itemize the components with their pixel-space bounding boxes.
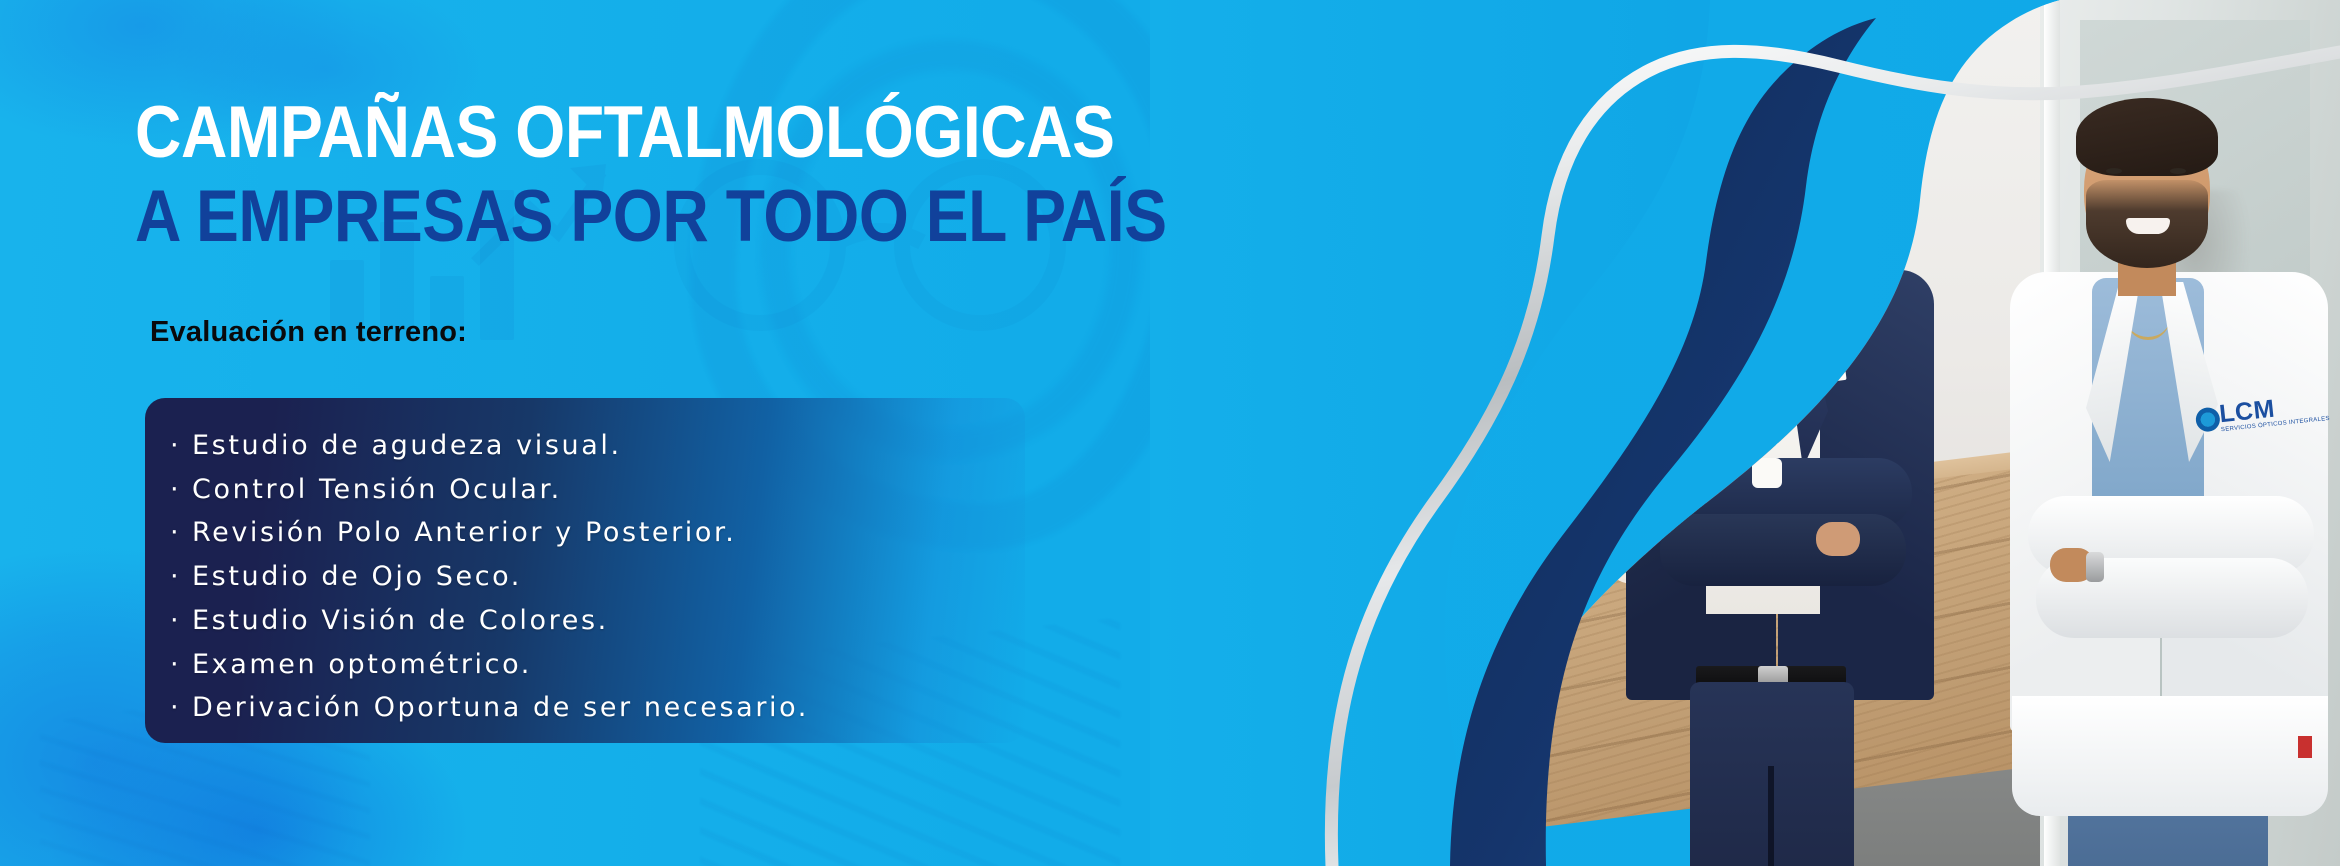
list-item-label: Examen optométrico.	[192, 649, 532, 680]
bullet-icon: ·	[170, 555, 192, 599]
services-list: ·Estudio de agudeza visual.·Control Tens…	[170, 424, 1040, 730]
list-item: ·Estudio de agudeza visual.	[170, 424, 1040, 468]
bullet-icon: ·	[170, 599, 192, 643]
list-item-label: Estudio Visión de Colores.	[192, 605, 609, 636]
list-item: ·Control Tensión Ocular.	[170, 468, 1040, 512]
list-item-label: Estudio de agudeza visual.	[192, 430, 622, 461]
bullet-icon: ·	[170, 424, 192, 468]
bullet-icon: ·	[170, 686, 192, 730]
list-item-label: Derivación Oportuna de ser necesario.	[192, 692, 809, 723]
list-item-label: Revisión Polo Anterior y Posterior.	[192, 517, 736, 548]
headline-line-2: A EMPRESAS POR TODO EL PAÍS	[135, 181, 1167, 253]
bullet-icon: ·	[170, 511, 192, 555]
list-item-label: Estudio de Ojo Seco.	[192, 561, 522, 592]
bullet-icon: ·	[170, 643, 192, 687]
eye-icon	[2195, 406, 2221, 432]
list-item-label: Control Tensión Ocular.	[192, 474, 562, 505]
person-lab-coat: LCM SERVICIOS ÓPTICOS INTEGRALES	[2010, 96, 2330, 866]
promo-banner: LCM SERVICIOS ÓPTICOS INTEGRALES	[0, 0, 2340, 866]
page-title: CAMPAÑAS OFTALMOLÓGICAS A EMPRESAS POR T…	[135, 97, 1307, 252]
list-item: ·Estudio Visión de Colores.	[170, 599, 1040, 643]
list-item: ·Revisión Polo Anterior y Posterior.	[170, 511, 1040, 555]
list-item: ·Examen optométrico.	[170, 643, 1040, 687]
headline-line-1: CAMPAÑAS OFTALMOLÓGICAS	[135, 97, 1167, 169]
bullet-icon: ·	[170, 468, 192, 512]
coat-logo: LCM SERVICIOS ÓPTICOS INTEGRALES	[2194, 391, 2290, 446]
subheading: Evaluación en terreno:	[150, 316, 467, 349]
list-item: ·Estudio de Ojo Seco.	[170, 555, 1040, 599]
list-item: ·Derivación Oportuna de ser necesario.	[170, 686, 1040, 730]
